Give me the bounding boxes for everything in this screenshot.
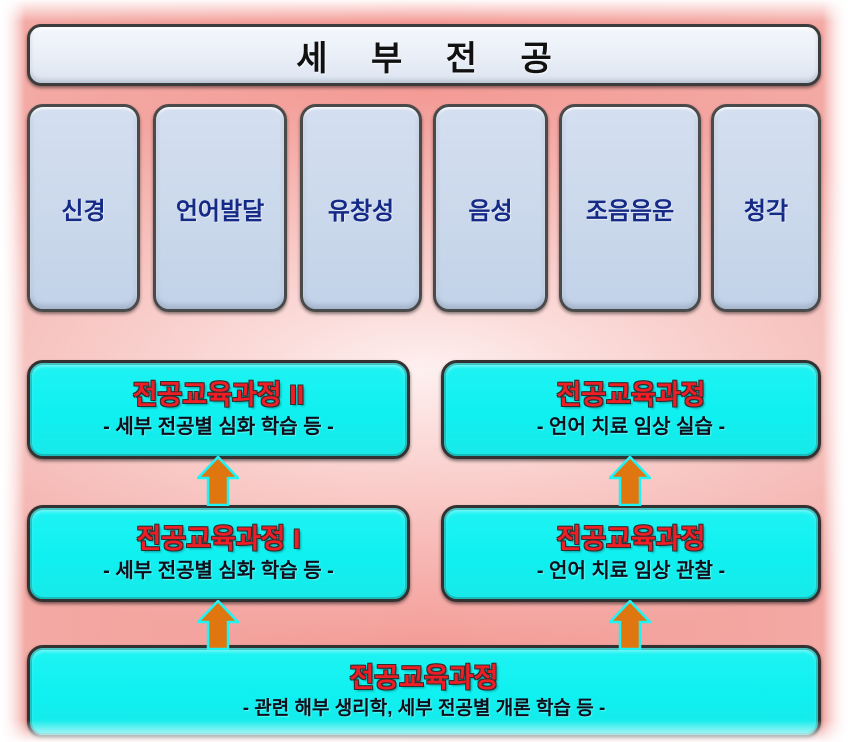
arrow-up-icon-right-lower	[609, 600, 651, 650]
specialty-card-label: 조음음운	[586, 191, 674, 226]
course-box-major-course-2[interactable]: 전공교육과정 II - 세부 전공별 심화 학습 등 -	[27, 360, 410, 459]
page-title: 세 부 전 공	[279, 31, 568, 80]
arrow-up-icon-left-lower	[197, 600, 239, 650]
specialty-card-label: 신경	[61, 191, 105, 226]
course-title: 전공교육과정 I	[136, 524, 300, 556]
specialty-card-articulation-phonology[interactable]: 조음음운	[559, 104, 701, 312]
arrow-up-icon-left-upper	[197, 456, 239, 506]
course-title: 전공교육과정	[556, 524, 705, 556]
specialty-curriculum-diagram: 세 부 전 공 신경 언어발달 유창성 음성 조음음운 청각 전공교육과정 II…	[0, 0, 848, 742]
course-subtitle: - 세부 전공별 심화 학습 등 -	[103, 559, 334, 583]
arrow-up-icon-right-upper	[609, 456, 651, 506]
course-subtitle: - 세부 전공별 심화 학습 등 -	[103, 415, 334, 439]
course-subtitle: - 관련 해부 생리학, 세부 전공별 개론 학습 등 -	[243, 698, 606, 721]
specialty-card-hearing[interactable]: 청각	[711, 104, 821, 312]
course-title: 전공교육과정	[556, 380, 705, 412]
course-box-clinical-practicum[interactable]: 전공교육과정 - 언어 치료 임상 실습 -	[441, 360, 821, 459]
specialty-card-fluency[interactable]: 유창성	[300, 104, 422, 312]
specialty-card-label: 청각	[744, 191, 788, 226]
course-title: 전공교육과정	[349, 663, 498, 695]
course-subtitle: - 언어 치료 임상 실습 -	[537, 415, 725, 439]
course-box-major-course-1[interactable]: 전공교육과정 I - 세부 전공별 심화 학습 등 -	[27, 505, 410, 602]
specialty-card-voice[interactable]: 음성	[433, 104, 548, 312]
specialty-card-label: 음성	[468, 191, 512, 226]
course-box-clinical-observation[interactable]: 전공교육과정 - 언어 치료 임상 관찰 -	[441, 505, 821, 602]
specialty-card-language-development[interactable]: 언어발달	[153, 104, 287, 312]
course-box-major-course-base[interactable]: 전공교육과정 - 관련 해부 생리학, 세부 전공별 개론 학습 등 -	[27, 645, 821, 738]
diagram-title-box: 세 부 전 공	[27, 24, 821, 86]
course-title: 전공교육과정 II	[133, 380, 305, 412]
specialty-card-label: 유창성	[328, 191, 394, 226]
specialty-card-label: 언어발달	[176, 191, 264, 226]
course-subtitle: - 언어 치료 임상 관찰 -	[537, 559, 725, 583]
specialty-card-neuro[interactable]: 신경	[27, 104, 140, 312]
